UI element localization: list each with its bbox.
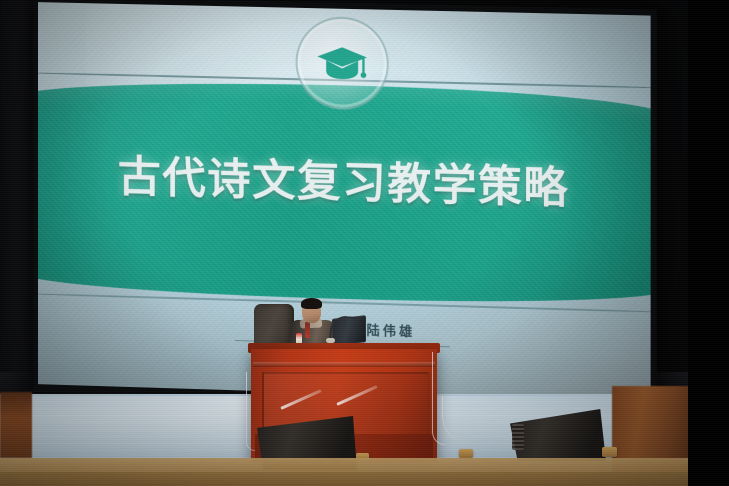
graduation-cap-icon bbox=[314, 34, 371, 92]
stage-front-edge-lower bbox=[0, 472, 700, 486]
stage-monitor-grille bbox=[512, 424, 524, 450]
wood-wedge-right bbox=[602, 447, 617, 457]
presenter-hair bbox=[301, 298, 322, 309]
cable-left bbox=[246, 372, 255, 451]
wall-right-black-band bbox=[688, 0, 729, 486]
stage-wood-trim-left bbox=[0, 392, 32, 458]
graduation-cap-badge bbox=[296, 16, 389, 111]
photo-scene: 古代诗文复习教学策略 石家庄二中 陆伟雄 bbox=[0, 0, 729, 486]
lectern-lip bbox=[253, 362, 435, 367]
wood-wedge-center bbox=[459, 449, 473, 458]
presenter-tie bbox=[305, 322, 310, 338]
